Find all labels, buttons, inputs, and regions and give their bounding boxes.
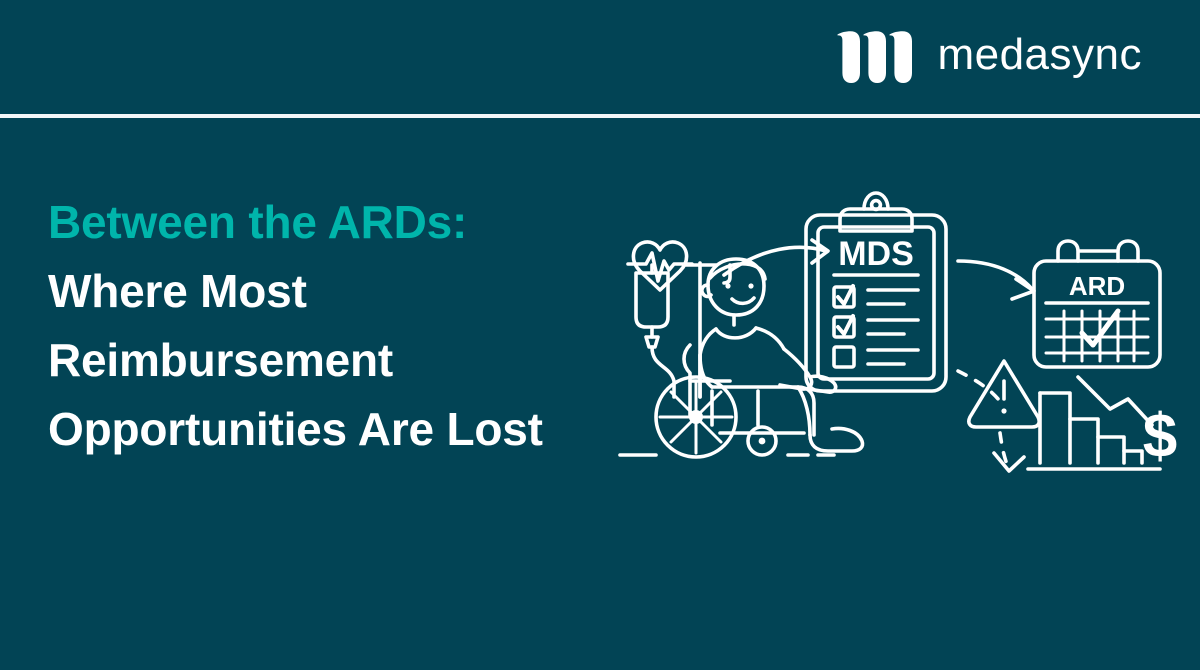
workflow-illustration: MDS: [612, 185, 1182, 485]
page-title: Between the ARDs: Where Most Reimburseme…: [48, 188, 648, 464]
headline-line-3: Reimbursement: [48, 326, 648, 395]
warning-triangle-icon: [969, 361, 1039, 427]
marketing-banner: medasync Between the ARDs: Where Most Re…: [0, 0, 1200, 670]
brand-logo-lockup[interactable]: medasync: [837, 26, 1142, 88]
clipboard-label: MDS: [838, 235, 914, 273]
curved-arrow-icon-2: [958, 261, 1034, 299]
mds-clipboard-icon: [806, 193, 946, 391]
headline-line-2: Where Most: [48, 257, 648, 326]
calendar-label: ARD: [1069, 271, 1125, 301]
medasync-m-monogram-icon: [837, 29, 915, 85]
ard-calendar-icon: [1034, 241, 1160, 367]
dollar-sign-icon: $: [1143, 402, 1177, 471]
header-band: medasync: [0, 0, 1200, 114]
headline-line-4: Opportunities Are Lost: [48, 395, 648, 464]
brand-wordmark: medasync: [937, 33, 1142, 81]
headline-line-1: Between the ARDs:: [48, 188, 648, 257]
dashed-arrow-icon-2: [994, 433, 1024, 471]
declining-bar-chart-icon: [1028, 377, 1160, 469]
illustration-svg: MDS: [612, 185, 1182, 485]
header-divider: [0, 114, 1200, 118]
